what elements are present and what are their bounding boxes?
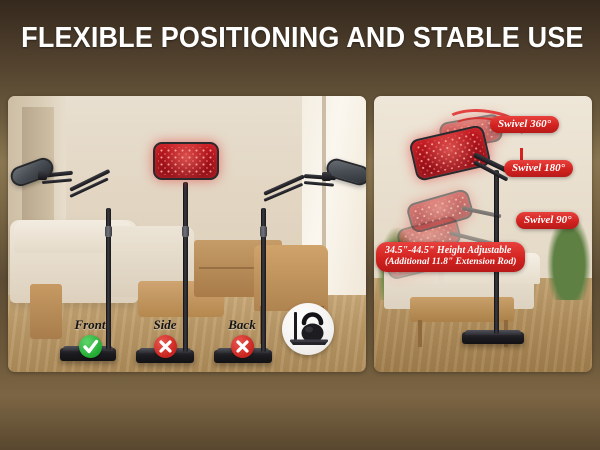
check-icon xyxy=(79,335,102,358)
callout-connector xyxy=(520,148,523,160)
view-label-front-text: Front xyxy=(58,318,122,332)
cross-icon xyxy=(231,335,254,358)
cross-icon xyxy=(154,335,177,358)
view-label-side-text: Side xyxy=(133,318,197,332)
callout-height-adjustable: 34.5"-44.5" Height Adjustable (Additiona… xyxy=(376,242,525,272)
height-line-2: (Additional 11.8" Extension Rod) xyxy=(385,257,516,269)
height-line-1: 34.5"-44.5" Height Adjustable xyxy=(385,245,511,256)
view-label-side: Side xyxy=(133,318,197,363)
poster-title-text: FLEXIBLE POSITIONING AND STABLE USE xyxy=(21,22,583,54)
product-infographic-poster: FLEXIBLE POSITIONING AND STABLE USE xyxy=(0,0,600,450)
callout-swivel-90: Swivel 90° xyxy=(516,212,579,229)
view-label-front: Front xyxy=(58,318,122,363)
table-leg xyxy=(418,320,422,348)
poster-title: FLEXIBLE POSITIONING AND STABLE USE xyxy=(0,22,600,54)
view-label-back: Back xyxy=(210,318,274,363)
right-photo-panel: Swivel 360° Swivel 180° Swivel 90° 34.5"… xyxy=(374,96,592,372)
led-array xyxy=(158,147,214,175)
stability-badge xyxy=(282,303,334,355)
kettlebell-on-base-icon xyxy=(282,303,334,355)
callout-swivel-180: Swivel 180° xyxy=(504,160,573,177)
callout-swivel-360: Swivel 360° xyxy=(490,116,559,133)
view-label-back-text: Back xyxy=(210,318,274,332)
